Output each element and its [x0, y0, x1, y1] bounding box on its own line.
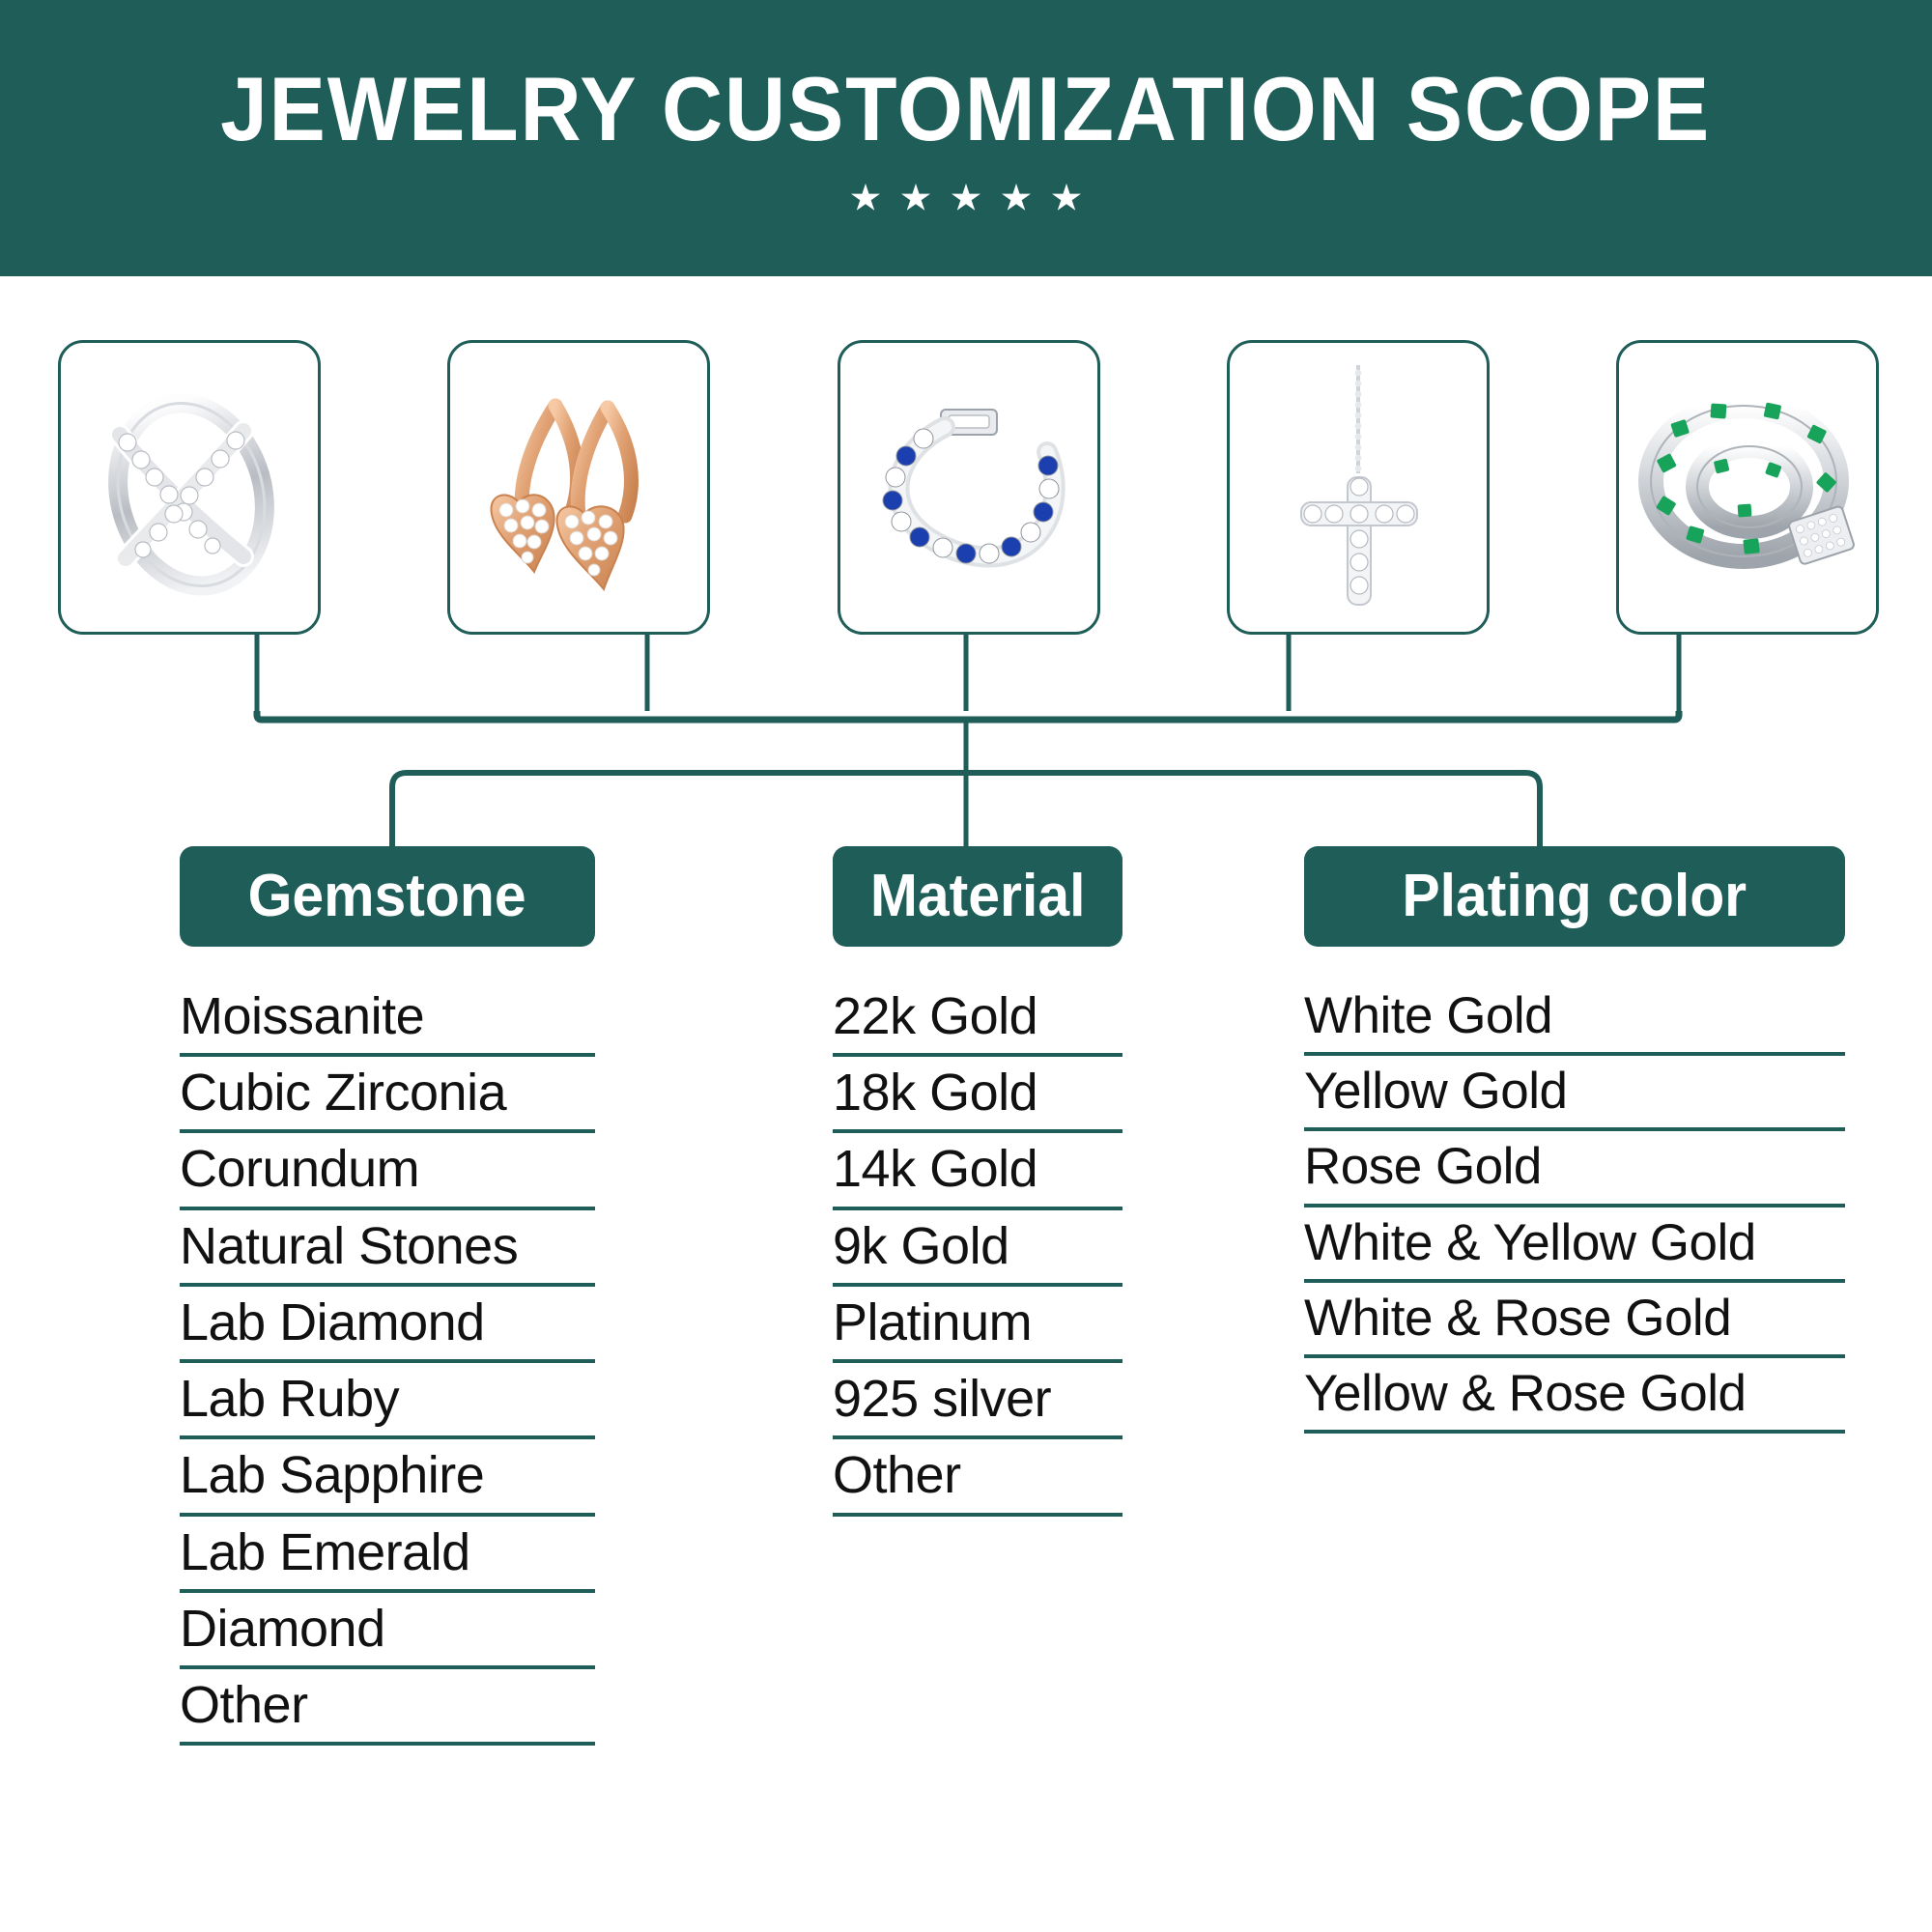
emerald-cuban-link-chain-icon	[1630, 367, 1866, 609]
option-label: 22k Gold	[833, 989, 1122, 1044]
list-item[interactable]: Platinum	[833, 1295, 1122, 1363]
header-banner: JEWELRY CUSTOMIZATION SCOPE	[0, 0, 1932, 276]
product-card-emerald-cuban-link-chain[interactable]	[1616, 340, 1879, 635]
list-item[interactable]: Cubic Zirconia	[180, 1065, 595, 1133]
star-rating-row	[851, 184, 1081, 213]
category-column-material: Material 22k Gold 18k Gold 14k Gold 9k G…	[833, 846, 1122, 1525]
list-item[interactable]: Other	[180, 1678, 595, 1746]
diamond-cross-necklace-icon	[1247, 357, 1469, 618]
option-label: Lab Sapphire	[180, 1448, 595, 1503]
category-columns: Gemstone Moissanite Cubic Zirconia Corun…	[0, 846, 1932, 1928]
list-item[interactable]: White & Rose Gold	[1304, 1292, 1845, 1358]
category-header-label: Material	[870, 867, 1086, 926]
infographic-page: JEWELRY CUSTOMIZATION SCOPE	[0, 0, 1932, 1932]
list-item[interactable]: Corundum	[180, 1142, 595, 1209]
option-label: Moissanite	[180, 989, 595, 1044]
list-item[interactable]: Natural Stones	[180, 1219, 595, 1287]
option-label: White & Rose Gold	[1304, 1292, 1845, 1346]
option-label: Lab Emerald	[180, 1525, 595, 1580]
category-column-plating-color: Plating color White Gold Yellow Gold Ros…	[1304, 846, 1845, 1442]
list-item[interactable]: Diamond	[180, 1602, 595, 1669]
option-list-material: 22k Gold 18k Gold 14k Gold 9k Gold Plati…	[833, 989, 1122, 1517]
list-item[interactable]: Other	[833, 1448, 1122, 1516]
product-card-diamond-cross-necklace[interactable]	[1227, 340, 1490, 635]
option-label: Other	[833, 1448, 1122, 1503]
diamond-crossover-ring-icon	[73, 367, 305, 609]
page-title: JEWELRY CUSTOMIZATION SCOPE	[221, 64, 1712, 155]
category-header-label: Plating color	[1403, 867, 1747, 926]
option-label: White & Yellow Gold	[1304, 1216, 1845, 1270]
option-label: Natural Stones	[180, 1219, 595, 1274]
list-item[interactable]: Lab Sapphire	[180, 1448, 595, 1516]
list-item[interactable]: Lab Diamond	[180, 1295, 595, 1363]
list-item[interactable]: Lab Ruby	[180, 1372, 595, 1439]
list-item[interactable]: Rose Gold	[1304, 1140, 1845, 1207]
category-column-gemstone: Gemstone Moissanite Cubic Zirconia Corun…	[180, 846, 595, 1754]
option-label: Lab Ruby	[180, 1372, 595, 1427]
list-item[interactable]: Lab Emerald	[180, 1525, 595, 1593]
list-item[interactable]: White Gold	[1304, 989, 1845, 1056]
product-card-rose-gold-heart-earrings[interactable]	[447, 340, 710, 635]
list-item[interactable]: 9k Gold	[833, 1219, 1122, 1287]
list-item[interactable]: 18k Gold	[833, 1065, 1122, 1133]
star-icon	[851, 184, 880, 213]
list-item[interactable]: 925 silver	[833, 1372, 1122, 1439]
rose-gold-heart-earrings-icon	[463, 367, 695, 609]
product-card-diamond-crossover-ring[interactable]	[58, 340, 321, 635]
option-list-plating-color: White Gold Yellow Gold Rose Gold White &…	[1304, 989, 1845, 1434]
option-label: Lab Diamond	[180, 1295, 595, 1350]
category-header-gemstone[interactable]: Gemstone	[180, 846, 595, 947]
option-label: 9k Gold	[833, 1219, 1122, 1274]
list-item[interactable]: Moissanite	[180, 989, 595, 1057]
star-icon	[1052, 184, 1081, 213]
list-item[interactable]: Yellow & Rose Gold	[1304, 1367, 1845, 1434]
option-label: Diamond	[180, 1602, 595, 1657]
option-label: Corundum	[180, 1142, 595, 1197]
sapphire-tennis-bracelet-icon	[848, 367, 1090, 609]
star-icon	[1002, 184, 1031, 213]
product-card-sapphire-tennis-bracelet[interactable]	[838, 340, 1100, 635]
option-label: Rose Gold	[1304, 1140, 1845, 1194]
product-card-row	[58, 340, 1879, 635]
option-label: 925 silver	[833, 1372, 1122, 1427]
option-label: Platinum	[833, 1295, 1122, 1350]
connector-tree	[0, 618, 1932, 860]
option-label: Cubic Zirconia	[180, 1065, 595, 1121]
list-item[interactable]: Yellow Gold	[1304, 1065, 1845, 1131]
option-label: White Gold	[1304, 989, 1845, 1043]
option-label: Yellow & Rose Gold	[1304, 1367, 1845, 1421]
option-label: 14k Gold	[833, 1142, 1122, 1197]
list-item[interactable]: 22k Gold	[833, 989, 1122, 1057]
option-label: Yellow Gold	[1304, 1065, 1845, 1119]
list-item[interactable]: 14k Gold	[833, 1142, 1122, 1209]
category-header-label: Gemstone	[248, 867, 526, 926]
option-label: 18k Gold	[833, 1065, 1122, 1121]
option-list-gemstone: Moissanite Cubic Zirconia Corundum Natur…	[180, 989, 595, 1746]
star-icon	[901, 184, 930, 213]
category-header-plating-color[interactable]: Plating color	[1304, 846, 1845, 947]
option-label: Other	[180, 1678, 595, 1733]
star-icon	[952, 184, 980, 213]
list-item[interactable]: White & Yellow Gold	[1304, 1216, 1845, 1283]
category-header-material[interactable]: Material	[833, 846, 1122, 947]
